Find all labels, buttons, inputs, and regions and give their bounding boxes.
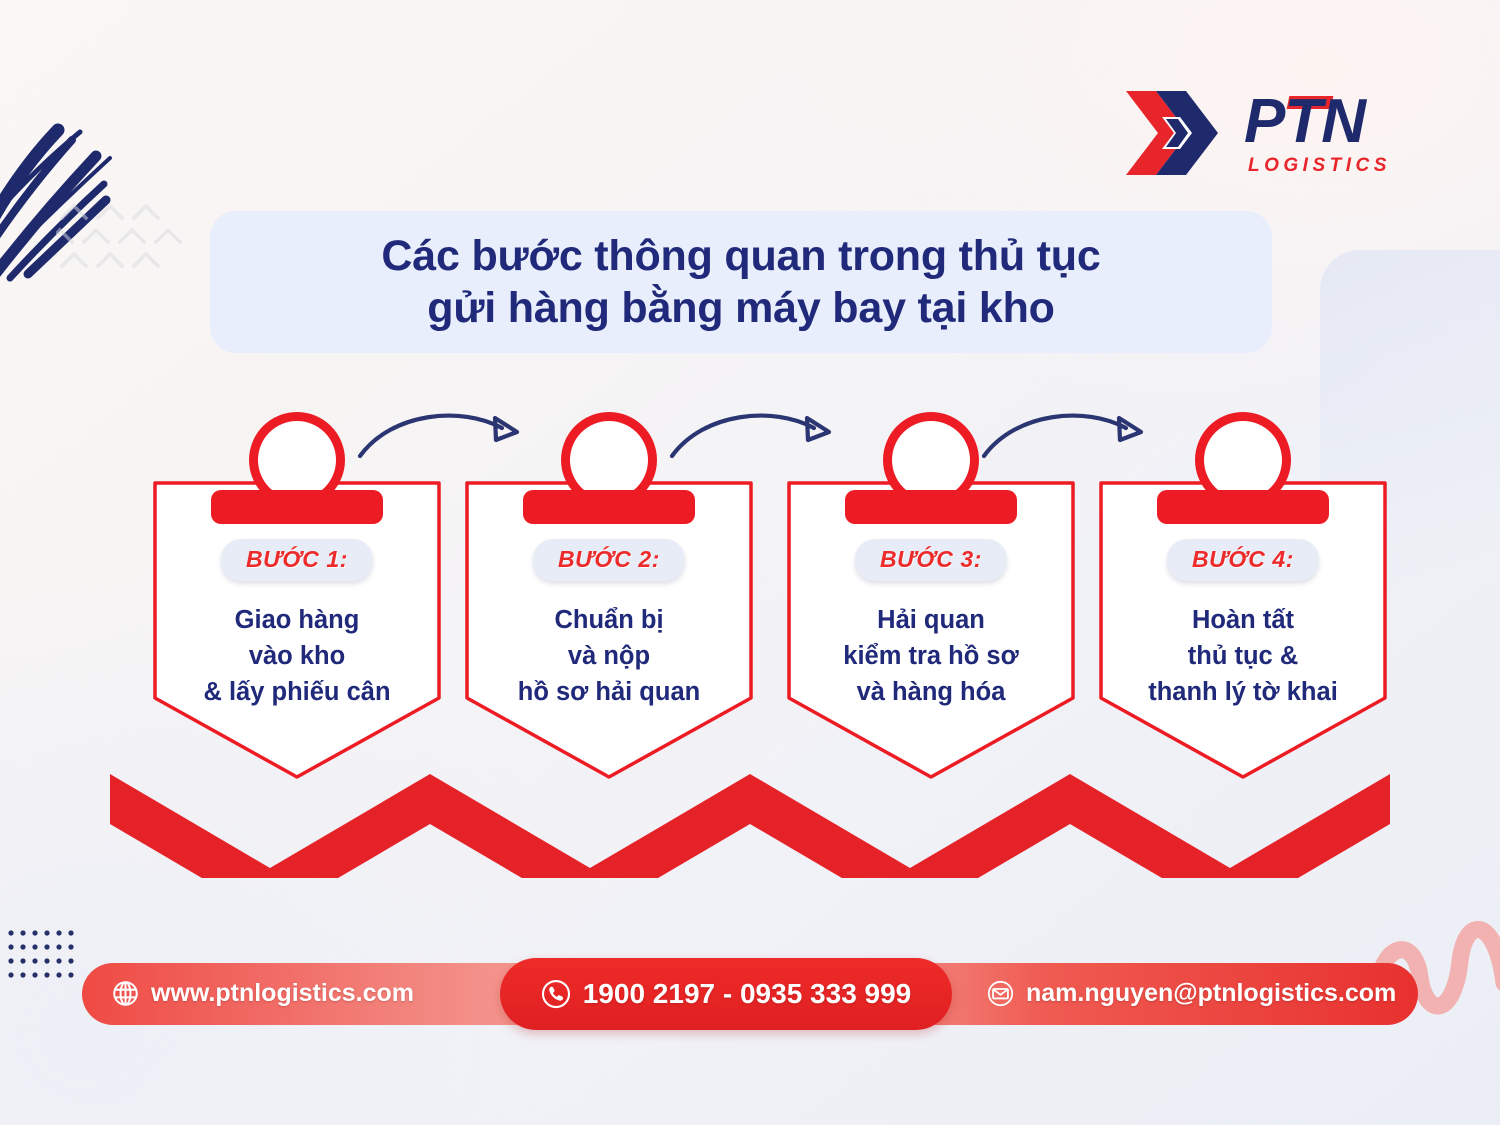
step-description: Hoàn tất thủ tục & thanh lý tờ khai [1098,602,1388,711]
step-badge: BƯỚC 3: [855,539,1007,581]
step-tab-bar [523,490,695,524]
phone-contact-inner: 1900 2197 - 0935 333 999 [541,978,912,1010]
step-tab-bar [211,490,383,524]
phone-text: 1900 2197 - 0935 333 999 [583,978,912,1010]
infographic-canvas: PTN LOGISTICS Các bước thông quan trong … [0,0,1500,1125]
website-contact[interactable]: www.ptnlogistics.com [112,979,414,1008]
email-contact[interactable]: nam.nguyen@ptnlogistics.com [987,979,1396,1008]
step-tab-bar [845,490,1017,524]
page-title: Các bước thông quan trong thủ tục gửi hà… [381,230,1100,335]
step-tab-bar [1157,490,1329,524]
chevron-logo-mark [1122,87,1230,179]
step-description: Chuẩn bị và nộp hồ sơ hải quan [464,602,754,711]
step-card-3[interactable]: BƯỚC 3: Hải quan kiểm tra hồ sơ và hàng … [786,412,1076,787]
logo-wordmark: PTN [1244,91,1365,153]
website-text: www.ptnlogistics.com [151,979,414,1008]
globe-icon [112,980,139,1007]
step-card-2[interactable]: BƯỚC 2: Chuẩn bị và nộp hồ sơ hải quan [464,412,754,787]
step-badge: BƯỚC 4: [1167,539,1319,581]
logo-tagline: LOGISTICS [1248,156,1391,175]
envelope-icon [987,980,1014,1007]
step-card-1[interactable]: BƯỚC 1: Giao hàng vào kho & lấy phiếu câ… [152,412,442,787]
step-description: Hải quan kiểm tra hồ sơ và hàng hóa [786,602,1076,711]
title-card: Các bước thông quan trong thủ tục gửi hà… [210,211,1272,353]
navy-scribble-decoration [0,78,206,308]
step-card-4[interactable]: BƯỚC 4: Hoàn tất thủ tục & thanh lý tờ k… [1098,412,1388,787]
phone-icon [541,979,571,1009]
step-badge: BƯỚC 2: [533,539,685,581]
step-badge-label: BƯỚC 1: [246,546,348,572]
chevron-pattern-decoration [56,196,206,276]
step-badge-label: BƯỚC 2: [558,546,660,572]
contact-footer: www.ptnlogistics.com 1900 2197 - 0935 33… [82,963,1418,1025]
step-badge-label: BƯỚC 4: [1192,546,1294,572]
email-text: nam.nguyen@ptnlogistics.com [1026,979,1396,1008]
step-badge-label: BƯỚC 3: [880,546,982,572]
ptn-logistics-logo: PTN LOGISTICS [1122,78,1422,188]
step-description: Giao hàng vào kho & lấy phiếu cân [152,602,442,711]
dot-grid-decoration [8,930,74,978]
phone-contact[interactable]: 1900 2197 - 0935 333 999 [500,958,952,1030]
step-badge: BƯỚC 1: [221,539,373,581]
